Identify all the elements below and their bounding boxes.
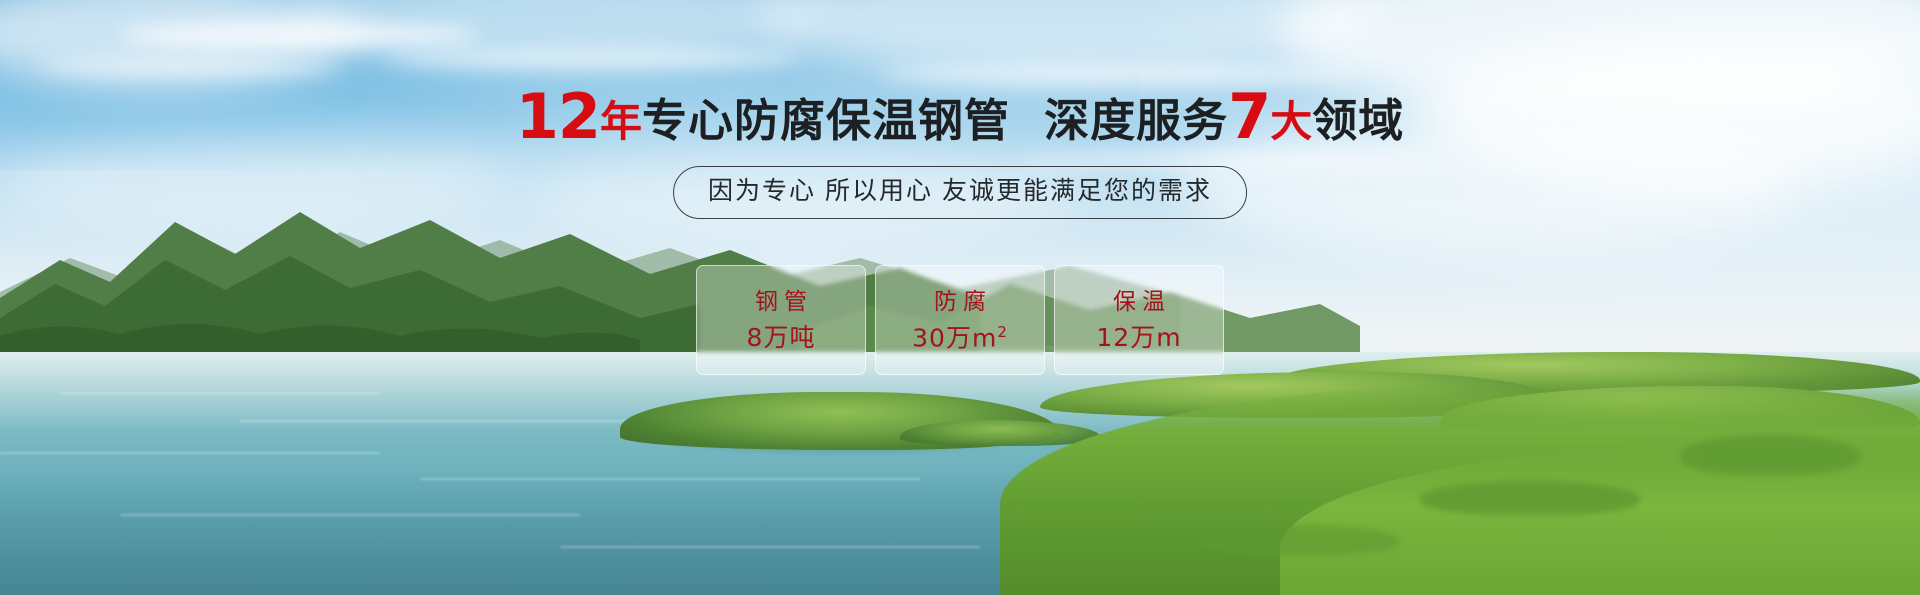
stat-card-value-superscript: 2 [997,323,1008,341]
stat-card-label: 钢管 [749,290,813,313]
water-streak [120,514,580,516]
stat-card-value: 8万吨 [747,325,816,350]
water-streak [240,420,660,422]
stat-card-label: 防腐 [928,290,992,313]
subtitle-text: 因为专心 所以用心 友诚更能满足您的需求 [708,176,1212,207]
headline-fields-unit: 大 [1270,98,1312,145]
headline-service-text: 深度服务 [1044,95,1228,146]
stat-card-group: 钢管 8万吨 防腐 30万m2 保温 12万m [696,265,1224,375]
stat-card-steel-pipe[interactable]: 钢管 8万吨 [696,265,866,375]
stat-card-value-text: 8万吨 [747,323,816,352]
headline-years-unit: 年 [600,98,642,145]
stat-card-value: 30万m2 [912,325,1008,350]
subtitle-pill: 因为专心 所以用心 友诚更能满足您的需求 [673,166,1247,219]
headline-main-text: 专心防腐保温钢管 [642,95,1010,146]
water-streak [420,478,920,480]
page-title: 12年专心防腐保温钢管深度服务7大领域 [0,86,1920,148]
stat-card-anticorrosion[interactable]: 防腐 30万m2 [875,265,1045,375]
headline-fields-number: 7 [1228,80,1270,153]
stat-card-value-text: 12万m [1096,323,1181,352]
cloud-icon [880,62,1360,86]
stat-card-value-text: 30万m [912,323,997,352]
cloud-icon [40,58,340,76]
stat-card-insulation[interactable]: 保温 12万m [1054,265,1224,375]
stat-card-label: 保温 [1107,290,1171,313]
headline-fields-text: 领域 [1312,95,1404,146]
water-shadow [0,470,1100,595]
water-streak [0,452,380,454]
headline-years-number: 12 [516,80,600,153]
grass-tuft [1680,435,1860,475]
water-streak [60,392,380,394]
hero-banner: 12年专心防腐保温钢管深度服务7大领域 因为专心 所以用心 友诚更能满足您的需求… [0,0,1920,595]
stat-card-value: 12万m [1096,325,1181,350]
grass-tuft [1200,525,1400,555]
grass-tuft [1420,481,1640,515]
cloud-icon [380,48,800,68]
water-streak [560,546,980,548]
